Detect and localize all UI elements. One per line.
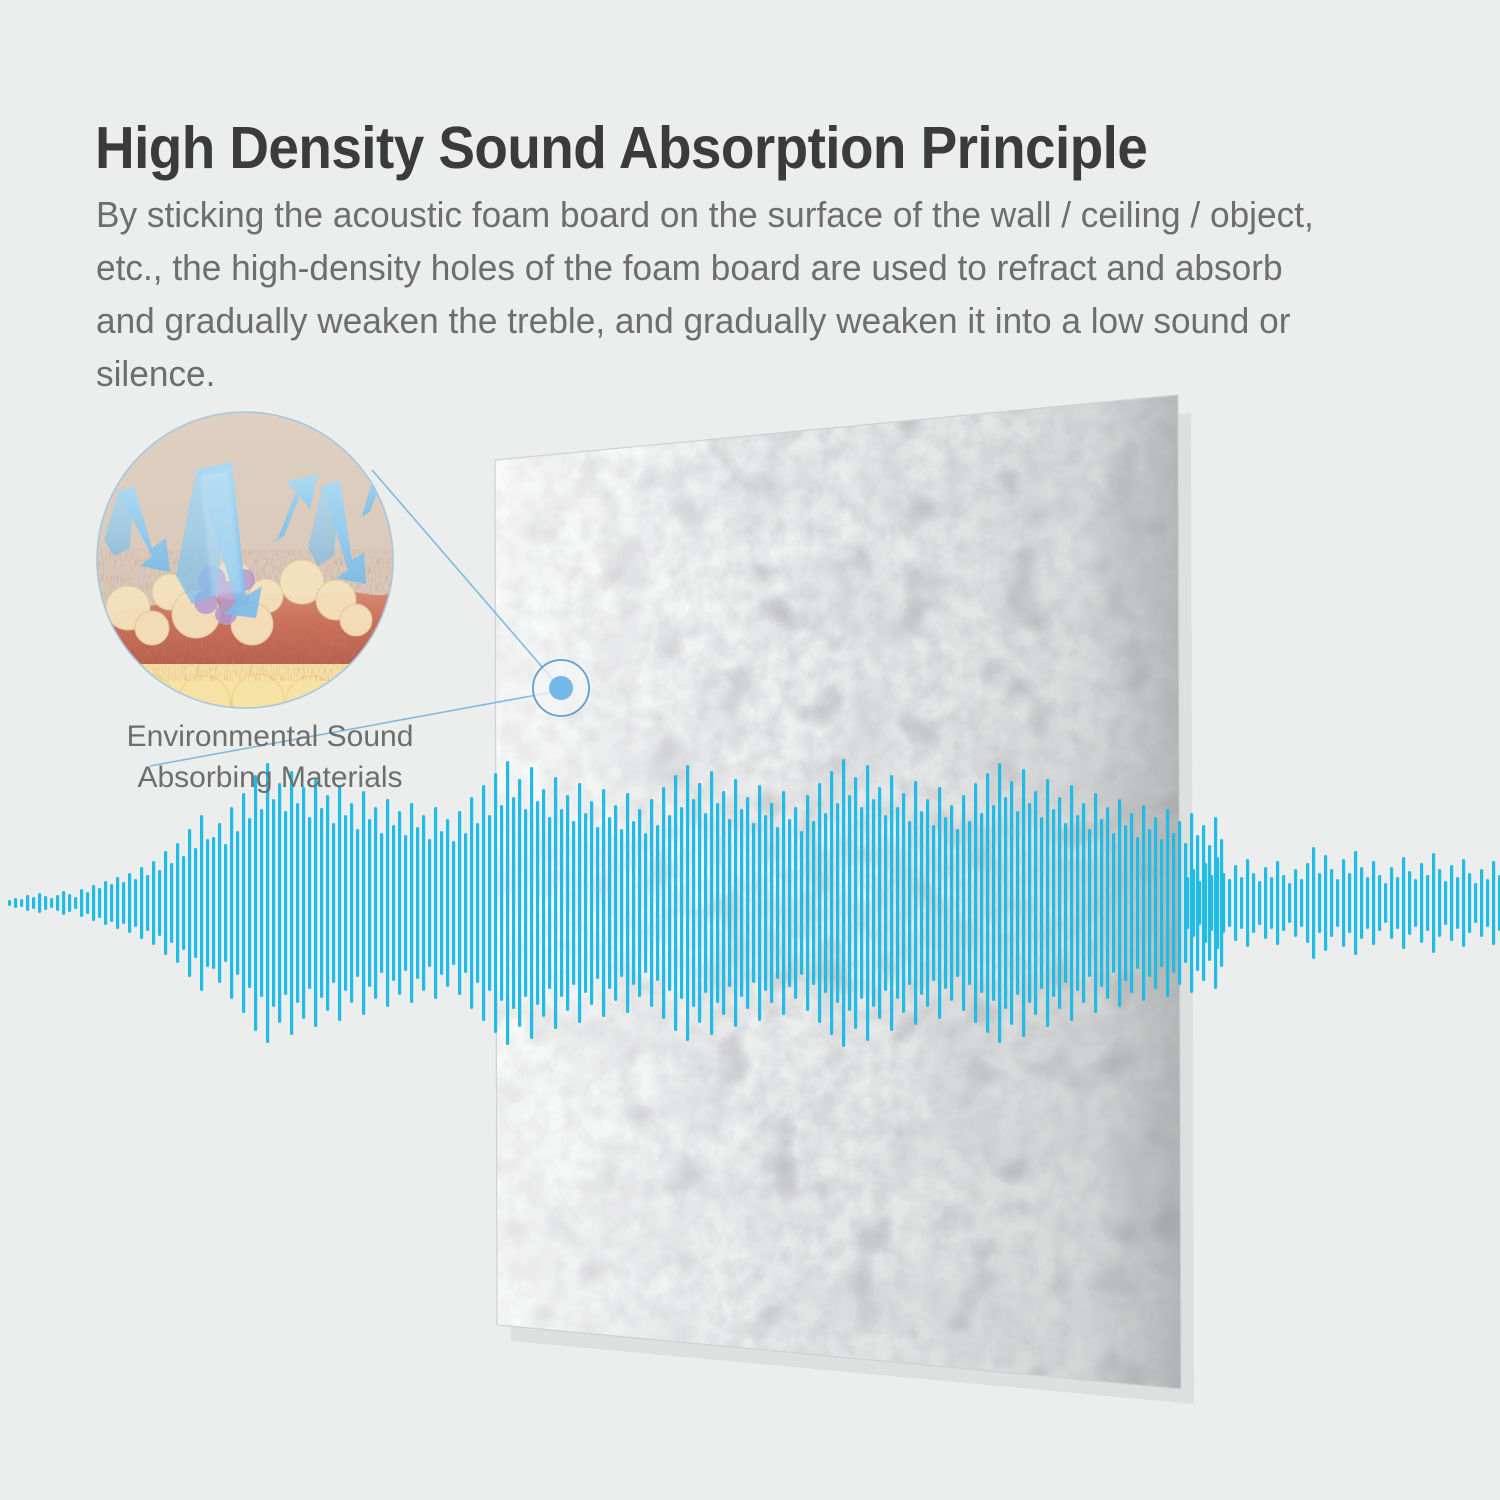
waveform-bar bbox=[380, 833, 383, 973]
waveform-bar bbox=[92, 885, 95, 921]
waveform-bar bbox=[260, 809, 263, 997]
waveform-bar bbox=[818, 783, 821, 1023]
waveform-bar bbox=[992, 805, 995, 1001]
waveform-bar bbox=[428, 839, 431, 967]
waveform-bar bbox=[116, 877, 119, 929]
waveform-bar bbox=[248, 818, 251, 988]
waveform-bar bbox=[752, 823, 755, 983]
waveform-bar bbox=[620, 829, 623, 977]
waveform-bar bbox=[1088, 829, 1091, 977]
waveform-bar bbox=[1468, 873, 1471, 933]
waveform-bar bbox=[254, 775, 257, 1031]
waveform-bar bbox=[1106, 807, 1109, 999]
waveform-bar bbox=[614, 805, 617, 1001]
waveform-bar bbox=[524, 809, 527, 997]
waveform-bar bbox=[446, 819, 449, 987]
waveform-bar bbox=[830, 771, 833, 1035]
waveform-bar bbox=[14, 898, 17, 908]
intro-line: etc., the high-density holes of the foam… bbox=[96, 241, 1372, 294]
waveform-bar bbox=[1282, 875, 1285, 931]
waveform-bar bbox=[782, 791, 785, 1015]
waveform-bar bbox=[182, 856, 185, 950]
waveform-bar bbox=[194, 848, 197, 958]
waveform-bar bbox=[416, 827, 419, 979]
waveform-bar bbox=[872, 799, 875, 1007]
waveform-bar bbox=[674, 775, 677, 1031]
waveform-bar bbox=[1426, 875, 1429, 931]
waveform-bar bbox=[290, 771, 293, 1035]
waveform-bar bbox=[1214, 817, 1217, 989]
waveform-bar bbox=[848, 795, 851, 1011]
waveform-bar bbox=[1196, 835, 1199, 971]
waveform-bar bbox=[464, 833, 467, 973]
waveform-bar bbox=[1366, 877, 1369, 929]
waveform-bar bbox=[1202, 825, 1205, 981]
waveform-bar bbox=[422, 815, 425, 991]
waveform-bar bbox=[170, 863, 173, 943]
waveform-bar bbox=[1480, 869, 1483, 937]
waveform-bar bbox=[608, 817, 611, 989]
waveform-bar bbox=[914, 781, 917, 1025]
waveform-bar bbox=[224, 844, 227, 962]
waveform-bar bbox=[776, 827, 779, 979]
waveform-bar bbox=[440, 831, 443, 975]
waveform-bar bbox=[344, 815, 347, 991]
waveform-bar bbox=[1474, 883, 1477, 923]
waveform-bar bbox=[1076, 815, 1079, 991]
intro-paragraph: By sticking the acoustic foam board on t… bbox=[96, 188, 1372, 400]
waveform-bar bbox=[320, 808, 323, 998]
waveform-bar bbox=[1186, 877, 1189, 929]
waveform-bar bbox=[1004, 797, 1007, 1009]
waveform-bar bbox=[1288, 883, 1291, 923]
waveform-bar bbox=[176, 843, 179, 963]
waveform-bar bbox=[602, 789, 605, 1017]
waveform-bar bbox=[698, 783, 701, 1023]
waveform-bar bbox=[1486, 879, 1489, 927]
waveform-bar bbox=[1390, 867, 1393, 939]
waveform-bar bbox=[1420, 863, 1423, 943]
waveform-bar bbox=[1058, 797, 1061, 1009]
waveform-bar bbox=[482, 785, 485, 1021]
waveform-bar bbox=[1204, 863, 1207, 943]
waveform-bar bbox=[1154, 817, 1157, 989]
waveform-bar bbox=[656, 825, 659, 981]
waveform-bar bbox=[710, 771, 713, 1035]
waveform-bar bbox=[794, 807, 797, 999]
waveform-bar bbox=[1046, 779, 1049, 1027]
waveform-bar bbox=[1444, 881, 1447, 925]
waveform-bar bbox=[314, 779, 317, 1027]
waveform-bar bbox=[1432, 853, 1435, 953]
waveform-bar bbox=[164, 851, 167, 955]
waveform-bar bbox=[668, 815, 671, 991]
waveform-bar bbox=[98, 888, 101, 918]
waveform-bar bbox=[362, 791, 365, 1015]
waveform-bar bbox=[1136, 837, 1139, 969]
waveform-bar bbox=[1028, 803, 1031, 1003]
waveform-bar bbox=[506, 761, 509, 1045]
waveform-bar bbox=[332, 823, 335, 983]
waveform-bar bbox=[206, 839, 209, 967]
waveform-bar bbox=[746, 797, 749, 1009]
waveform-bar bbox=[1402, 857, 1405, 949]
panel-shadow bbox=[509, 413, 1194, 1404]
waveform-bar bbox=[1070, 785, 1073, 1021]
waveform-bar bbox=[1190, 813, 1193, 993]
waveform-bar bbox=[584, 813, 587, 993]
waveform-bar bbox=[386, 799, 389, 1007]
waveform-bar bbox=[236, 831, 239, 975]
waveform-bar bbox=[986, 773, 989, 1033]
waveform-bar bbox=[842, 759, 845, 1047]
waveform-bar bbox=[1492, 861, 1495, 945]
waveform-bar bbox=[284, 811, 287, 995]
waveform-bar bbox=[356, 829, 359, 977]
waveform-bar bbox=[104, 881, 107, 925]
waveform-bar bbox=[1264, 867, 1267, 939]
waveform-bar bbox=[1270, 877, 1273, 929]
waveform-bar bbox=[1336, 879, 1339, 927]
waveform-bar bbox=[1112, 833, 1115, 973]
waveform-bar bbox=[908, 821, 911, 985]
waveform-bar bbox=[1252, 873, 1255, 933]
waveform-bar bbox=[1228, 879, 1231, 927]
waveform-bar bbox=[1306, 863, 1309, 943]
waveform-bar bbox=[1360, 867, 1363, 939]
waveform-bar bbox=[860, 807, 863, 999]
waveform-bar bbox=[596, 827, 599, 979]
waveform-bar bbox=[374, 807, 377, 999]
waveform-bar bbox=[518, 779, 521, 1027]
waveform-bar bbox=[308, 817, 311, 989]
waveform-bar bbox=[1378, 875, 1381, 931]
waveform-bar bbox=[590, 801, 593, 1005]
waveform-bar bbox=[62, 891, 65, 915]
waveform-bar bbox=[1094, 793, 1097, 1013]
waveform-bar bbox=[572, 821, 575, 985]
waveform-bar bbox=[1450, 865, 1453, 941]
waveform-bar bbox=[1324, 855, 1327, 951]
waveform-bar bbox=[680, 807, 683, 999]
waveform-bar bbox=[1348, 873, 1351, 933]
waveform-bar bbox=[1312, 847, 1315, 959]
waveform-bar bbox=[1234, 865, 1237, 941]
inset-caption-line1: Environmental Sound bbox=[60, 716, 480, 757]
inset-caption: Environmental Sound Absorbing Materials bbox=[60, 716, 480, 798]
inset-caption-line2: Absorbing Materials bbox=[60, 757, 480, 798]
waveform-bar bbox=[1166, 809, 1169, 997]
intro-line: and gradually weaken the treble, and gra… bbox=[96, 294, 1372, 347]
waveform-bar bbox=[1456, 877, 1459, 929]
waveform-bar bbox=[728, 819, 731, 987]
waveform-bar bbox=[1330, 869, 1333, 937]
page-title: High Density Sound Absorption Principle bbox=[95, 118, 1323, 180]
waveform-bar bbox=[1318, 873, 1321, 933]
waveform-bar bbox=[722, 791, 725, 1015]
waveform-bar bbox=[1240, 877, 1243, 929]
waveform-bar bbox=[1222, 873, 1225, 933]
waveform-bar bbox=[740, 809, 743, 997]
waveform-bar bbox=[1246, 859, 1249, 947]
waveform-bar bbox=[1124, 825, 1127, 981]
waveform-bar bbox=[1198, 881, 1201, 925]
intro-line: By sticking the acoustic foam board on t… bbox=[96, 188, 1372, 241]
waveform-bar bbox=[998, 763, 1001, 1043]
waveform-bar bbox=[1040, 817, 1043, 989]
waveform-bar bbox=[476, 823, 479, 983]
waveform-bar bbox=[122, 882, 125, 924]
waveform-bar bbox=[884, 815, 887, 991]
waveform-bar bbox=[350, 803, 353, 1003]
waveform-bar bbox=[1408, 871, 1411, 935]
waveform-bar bbox=[212, 837, 215, 969]
waveform-bar bbox=[26, 895, 29, 911]
waveform-bar bbox=[1208, 845, 1211, 961]
waveform-bar bbox=[368, 819, 371, 987]
waveform-bar bbox=[458, 811, 461, 995]
waveform-bar bbox=[1294, 869, 1297, 937]
waveform-bar bbox=[896, 807, 899, 999]
waveform-bar bbox=[86, 892, 89, 914]
waveform-bar bbox=[1034, 791, 1037, 1015]
waveform-bar bbox=[32, 897, 35, 909]
waveform-bar bbox=[1192, 869, 1195, 937]
waveform-bar bbox=[686, 765, 689, 1041]
waveform-bar bbox=[1414, 879, 1417, 927]
waveform-bar bbox=[1052, 809, 1055, 997]
waveform-bar bbox=[500, 805, 503, 1001]
waveform-bar bbox=[158, 870, 161, 936]
waveform-bar bbox=[1300, 879, 1303, 927]
waveform-bar bbox=[1016, 811, 1019, 995]
waveform-bar bbox=[632, 821, 635, 985]
waveform-bar bbox=[560, 809, 563, 997]
waveform-bar bbox=[56, 895, 59, 911]
waveform-bar bbox=[488, 815, 491, 991]
waveform-bar bbox=[1100, 819, 1103, 987]
waveform-bar bbox=[530, 767, 533, 1039]
intro-line: silence. bbox=[96, 347, 1372, 400]
waveform-bar bbox=[410, 803, 413, 1003]
waveform-bar bbox=[800, 831, 803, 975]
waveform-bar bbox=[1130, 813, 1133, 993]
waveform-bar bbox=[644, 833, 647, 973]
waveform-bar bbox=[824, 813, 827, 993]
waveform-bar bbox=[938, 787, 941, 1019]
waveform-bar bbox=[326, 795, 329, 1011]
waveform-bar bbox=[806, 795, 809, 1011]
waveform-bar bbox=[554, 777, 557, 1029]
waveform-bar bbox=[866, 765, 869, 1041]
waveform-bar bbox=[494, 773, 497, 1033]
waveform-bar bbox=[1216, 857, 1219, 949]
waveform-bar bbox=[1022, 769, 1025, 1037]
waveform-bar bbox=[392, 825, 395, 981]
waveform-bar bbox=[968, 821, 971, 985]
waveform-bar bbox=[1258, 881, 1261, 925]
waveform-bar bbox=[338, 785, 341, 1021]
attenuated-waveform bbox=[1186, 831, 1500, 975]
waveform-bar bbox=[1172, 833, 1175, 973]
waveform-bar bbox=[536, 801, 539, 1005]
waveform-bar bbox=[1010, 781, 1013, 1025]
waveform-bar bbox=[398, 811, 401, 995]
waveform-bar bbox=[140, 867, 143, 939]
waveform-bar bbox=[638, 809, 641, 997]
waveform-bar bbox=[704, 813, 707, 993]
waveform-bar bbox=[1160, 839, 1163, 967]
waveform-bar bbox=[80, 889, 83, 917]
waveform-bar bbox=[692, 799, 695, 1007]
waveform-bar bbox=[662, 787, 665, 1019]
waveform-bar bbox=[1438, 869, 1441, 937]
magnified-inset bbox=[88, 410, 395, 728]
waveform-bar bbox=[878, 787, 881, 1019]
waveform-bar bbox=[278, 783, 281, 1023]
waveform-bar bbox=[146, 875, 149, 931]
waveform-bar bbox=[932, 825, 935, 981]
waveform-bar bbox=[434, 807, 437, 999]
panel-face bbox=[480, 380, 1200, 1410]
waveform-bar bbox=[1082, 803, 1085, 1003]
waveform-bar bbox=[716, 803, 719, 1003]
waveform-bar bbox=[1396, 877, 1399, 929]
waveform-bar bbox=[1372, 861, 1375, 945]
waveform-bar bbox=[764, 815, 767, 991]
waveform-bar bbox=[548, 817, 551, 989]
waveform-bar bbox=[578, 783, 581, 1023]
waveform-bar bbox=[1276, 861, 1279, 945]
waveform-bar bbox=[1220, 839, 1223, 967]
waveform-bar bbox=[980, 813, 983, 993]
waveform-bar bbox=[758, 785, 761, 1021]
waveform-bar bbox=[1384, 883, 1387, 923]
waveform-bar bbox=[152, 861, 155, 945]
waveform-bar bbox=[452, 841, 455, 965]
callout-marker[interactable] bbox=[533, 660, 589, 716]
waveform-bar bbox=[788, 819, 791, 987]
waveform-bar bbox=[902, 793, 905, 1013]
waveform-bar bbox=[242, 793, 245, 1013]
waveform-bar bbox=[836, 803, 839, 1003]
waveform-bar bbox=[1118, 799, 1121, 1007]
waveform-bar bbox=[1064, 823, 1067, 983]
waveform-bar bbox=[74, 897, 77, 909]
waveform-bar bbox=[1178, 821, 1181, 985]
waveform-bar bbox=[770, 803, 773, 1003]
waveform-bar bbox=[1148, 829, 1151, 977]
panel-outline bbox=[495, 395, 1181, 1389]
waveform-bar bbox=[542, 789, 545, 1017]
waveform-bar bbox=[44, 896, 47, 910]
waveform-bar bbox=[920, 811, 923, 995]
waveform-bar bbox=[50, 898, 53, 908]
waveform-bar bbox=[1184, 843, 1187, 963]
waveform-bar bbox=[38, 893, 41, 913]
sound-arrows bbox=[104, 462, 392, 618]
waveform-bar bbox=[962, 795, 965, 1011]
waveform-bar bbox=[296, 803, 299, 1003]
waveform-bar bbox=[20, 899, 23, 907]
waveform-bar bbox=[812, 821, 815, 985]
waveform-bar bbox=[128, 873, 131, 933]
waveform-bar bbox=[1210, 875, 1213, 931]
waveform-bar bbox=[1342, 859, 1345, 947]
waveform-bar bbox=[68, 894, 71, 912]
waveform-bar bbox=[134, 879, 137, 927]
waveform-bar bbox=[8, 900, 11, 906]
waveform-bar bbox=[650, 799, 653, 1007]
waveform-bar bbox=[566, 795, 569, 1011]
waveform-bar bbox=[1462, 859, 1465, 947]
waveform-bar bbox=[854, 777, 857, 1029]
waveform-bar bbox=[956, 829, 959, 977]
infographic-page: High Density Sound Absorption Principle … bbox=[0, 0, 1500, 1500]
waveform-bar bbox=[1354, 851, 1357, 955]
waveform-bar bbox=[944, 817, 947, 989]
waveform-bar bbox=[188, 829, 191, 977]
waveform-bar bbox=[266, 763, 269, 1043]
waveform-bar bbox=[734, 779, 737, 1027]
waveform-bar bbox=[404, 835, 407, 971]
waveform-bar bbox=[950, 805, 953, 1001]
waveform-bar bbox=[302, 787, 305, 1019]
waveform-bar bbox=[272, 799, 275, 1007]
waveform-bar bbox=[1142, 805, 1145, 1001]
waveform-bar bbox=[512, 797, 515, 1009]
waveform-bar bbox=[110, 884, 113, 922]
waveform-bar bbox=[200, 815, 203, 991]
incoming-waveform bbox=[8, 759, 1223, 1047]
waveform-bar bbox=[218, 823, 221, 983]
waveform-bar bbox=[974, 783, 977, 1023]
waveform-bar bbox=[230, 807, 233, 999]
waveform-bar bbox=[926, 799, 929, 1007]
waveform-bar bbox=[626, 793, 629, 1013]
waveform-bar bbox=[890, 775, 893, 1031]
waveform-bar bbox=[470, 797, 473, 1009]
